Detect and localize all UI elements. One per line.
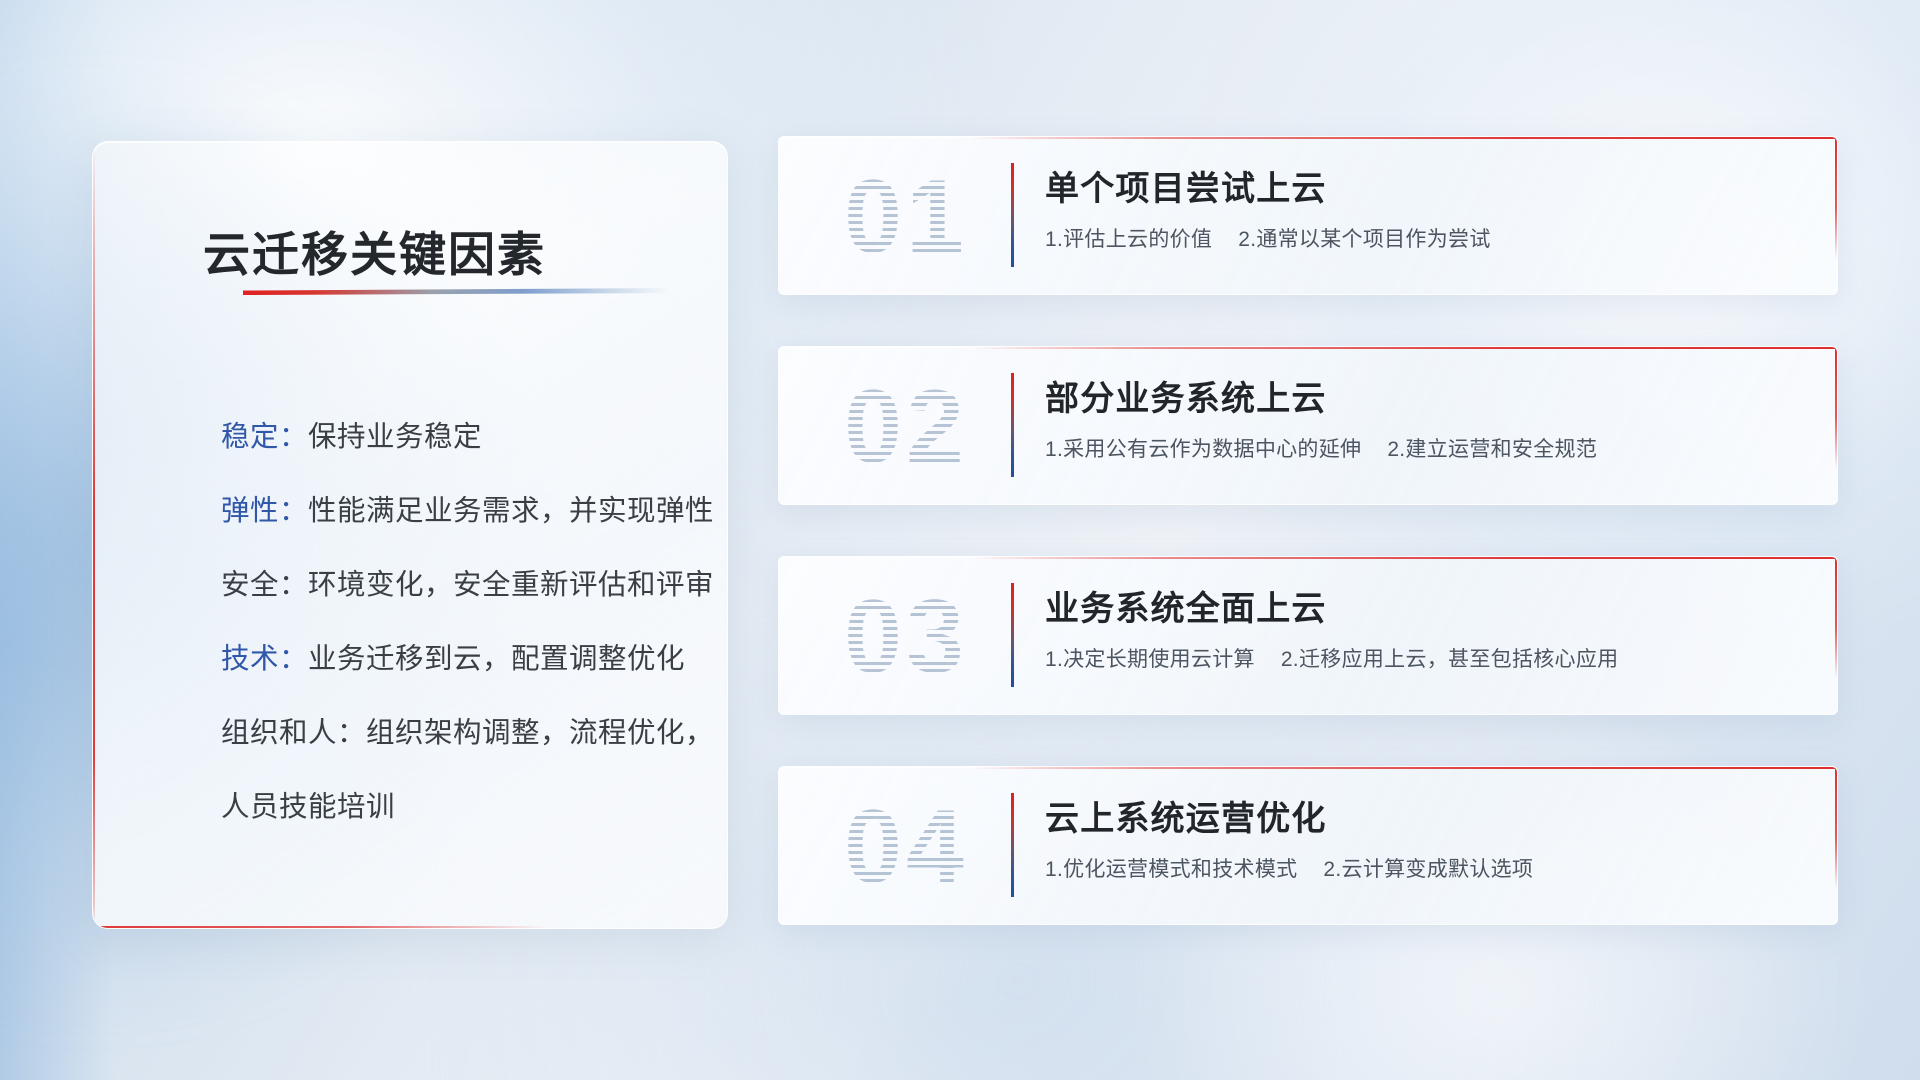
stage-subtitle: 1.决定长期使用云计算2.迁移应用上云，甚至包括核心应用 [1045, 643, 1618, 673]
list-item-text: 保持业务稳定 [308, 421, 482, 453]
list-item-label: 安全： [221, 569, 308, 601]
list-item-text: 组织架构调整，流程优化， [366, 717, 714, 749]
list-item-label: 弹性： [221, 495, 308, 527]
list-item: 技术：业务迁移到云，配置调整优化 [221, 622, 687, 696]
stage-number: 01 [811, 151, 1001, 283]
list-item: 人员技能培训 [221, 770, 687, 844]
stage-number: 04 [811, 781, 1001, 913]
stage-point-2: 2.建立运营和安全规范 [1387, 438, 1597, 461]
stage-point-2: 2.迁移应用上云，甚至包括核心应用 [1281, 648, 1619, 671]
stage-title: 业务系统全面上云 [1045, 581, 1327, 630]
panel-title-underline [243, 288, 669, 295]
list-item-label: 稳定： [221, 421, 308, 453]
stage-card[interactable]: 03 业务系统全面上云 1.决定长期使用云计算2.迁移应用上云，甚至包括核心应用 [778, 556, 1838, 715]
stage-accent-bar [1011, 163, 1014, 267]
stage-point-1: 1.优化运营模式和技术模式 [1045, 858, 1297, 881]
stage-point-1: 1.采用公有云作为数据中心的延伸 [1045, 438, 1361, 461]
key-factors-panel: 云迁移关键因素 稳定：保持业务稳定 弹性：性能满足业务需求，并实现弹性 安全：环… [92, 141, 728, 929]
stage-subtitle: 1.优化运营模式和技术模式2.云计算变成默认选项 [1045, 853, 1533, 883]
stage-accent-bar [1011, 373, 1014, 477]
stage-number: 03 [811, 571, 1001, 703]
stage-point-2: 2.通常以某个项目作为尝试 [1238, 228, 1490, 251]
list-item-text: 业务迁移到云，配置调整优化 [308, 643, 685, 675]
list-item-text: 性能满足业务需求，并实现弹性 [308, 495, 714, 527]
stage-subtitle: 1.评估上云的价值2.通常以某个项目作为尝试 [1045, 223, 1491, 253]
key-factors-list: 稳定：保持业务稳定 弹性：性能满足业务需求，并实现弹性 安全：环境变化，安全重新… [221, 400, 687, 844]
stage-accent-bar [1011, 793, 1014, 897]
panel-title: 云迁移关键因素 [203, 216, 546, 285]
list-item-label: 组织和人： [221, 717, 366, 749]
stage-number: 02 [811, 361, 1001, 493]
list-item: 弹性：性能满足业务需求，并实现弹性 [221, 474, 687, 548]
stage-accent-bar [1011, 583, 1014, 687]
stage-point-2: 2.云计算变成默认选项 [1323, 858, 1533, 881]
stage-card[interactable]: 04 云上系统运营优化 1.优化运营模式和技术模式2.云计算变成默认选项 [778, 766, 1838, 925]
stage-title: 单个项目尝试上云 [1045, 161, 1327, 210]
list-item-text: 人员技能培训 [221, 791, 395, 823]
stage-subtitle: 1.采用公有云作为数据中心的延伸2.建立运营和安全规范 [1045, 433, 1597, 463]
migration-stage-cards: 01 单个项目尝试上云 1.评估上云的价值2.通常以某个项目作为尝试 02 部分… [778, 136, 1838, 976]
list-item-text: 环境变化，安全重新评估和评审 [308, 569, 714, 601]
stage-number-text: 03 [844, 579, 968, 695]
stage-number-text: 01 [844, 159, 968, 275]
slide-stage: 云迁移关键因素 稳定：保持业务稳定 弹性：性能满足业务需求，并实现弹性 安全：环… [0, 0, 1920, 1080]
stage-point-1: 1.决定长期使用云计算 [1045, 648, 1255, 671]
stage-number-text: 02 [844, 369, 968, 485]
stage-title: 部分业务系统上云 [1045, 371, 1327, 420]
stage-title: 云上系统运营优化 [1045, 791, 1327, 840]
stage-number-text: 04 [844, 789, 968, 905]
list-item-label: 技术： [221, 643, 308, 675]
stage-card[interactable]: 02 部分业务系统上云 1.采用公有云作为数据中心的延伸2.建立运营和安全规范 [778, 346, 1838, 505]
list-item: 组织和人：组织架构调整，流程优化， [221, 696, 687, 770]
list-item: 稳定：保持业务稳定 [221, 400, 687, 474]
stage-card[interactable]: 01 单个项目尝试上云 1.评估上云的价值2.通常以某个项目作为尝试 [778, 136, 1838, 295]
list-item: 安全：环境变化，安全重新评估和评审 [221, 548, 687, 622]
stage-point-1: 1.评估上云的价值 [1045, 228, 1212, 251]
